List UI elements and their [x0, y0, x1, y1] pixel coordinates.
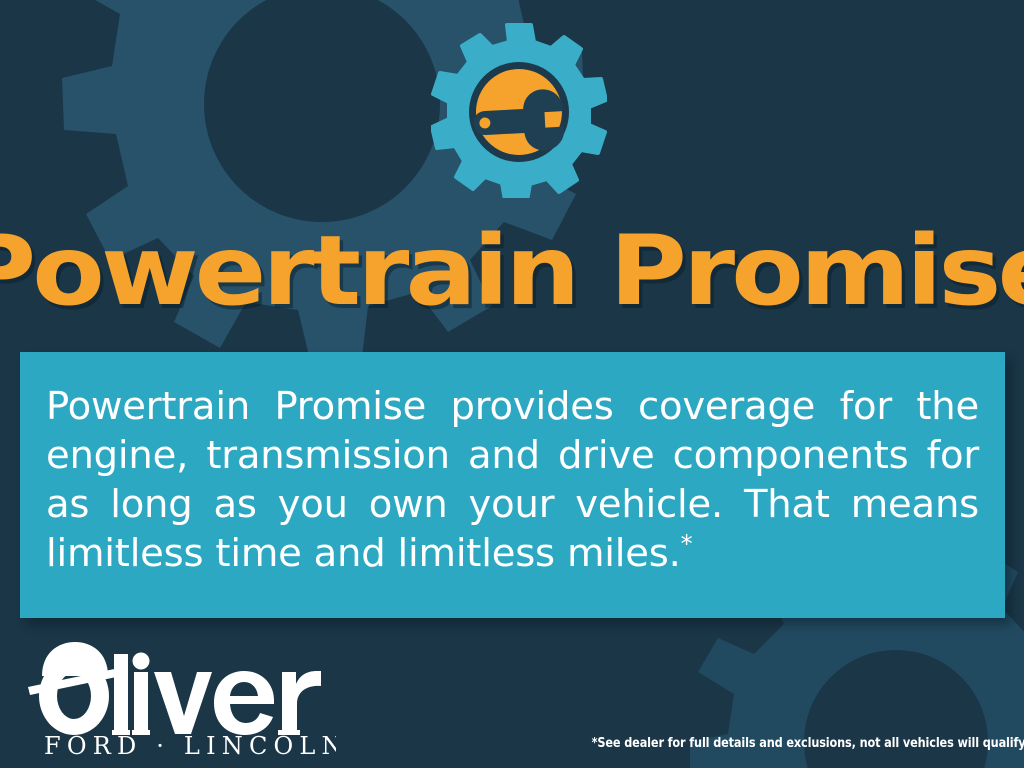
footnote-marker: *: [681, 530, 693, 558]
promise-description-copy: Powertrain Promise provides coverage for…: [46, 384, 979, 576]
disclaimer-text: *See dealer for full details and exclusi…: [592, 735, 1012, 752]
promise-description-text: Powertrain Promise provides coverage for…: [46, 382, 979, 578]
oliver-ford-lincoln-logo: FORD · LINCOLN: [26, 640, 336, 758]
logo-tagline-text: FORD · LINCOLN: [44, 732, 336, 758]
promise-description-panel: Powertrain Promise provides coverage for…: [20, 352, 1005, 618]
logo-tagline: FORD · LINCOLN: [44, 732, 336, 758]
gear-wrench-icon: [431, 22, 607, 198]
page-title: Powertrain Promise: [0, 216, 1024, 326]
logo-wordmark: [28, 642, 321, 735]
powertrain-promise-poster: Powertrain Promise Powertrain Promise pr…: [0, 0, 1024, 768]
